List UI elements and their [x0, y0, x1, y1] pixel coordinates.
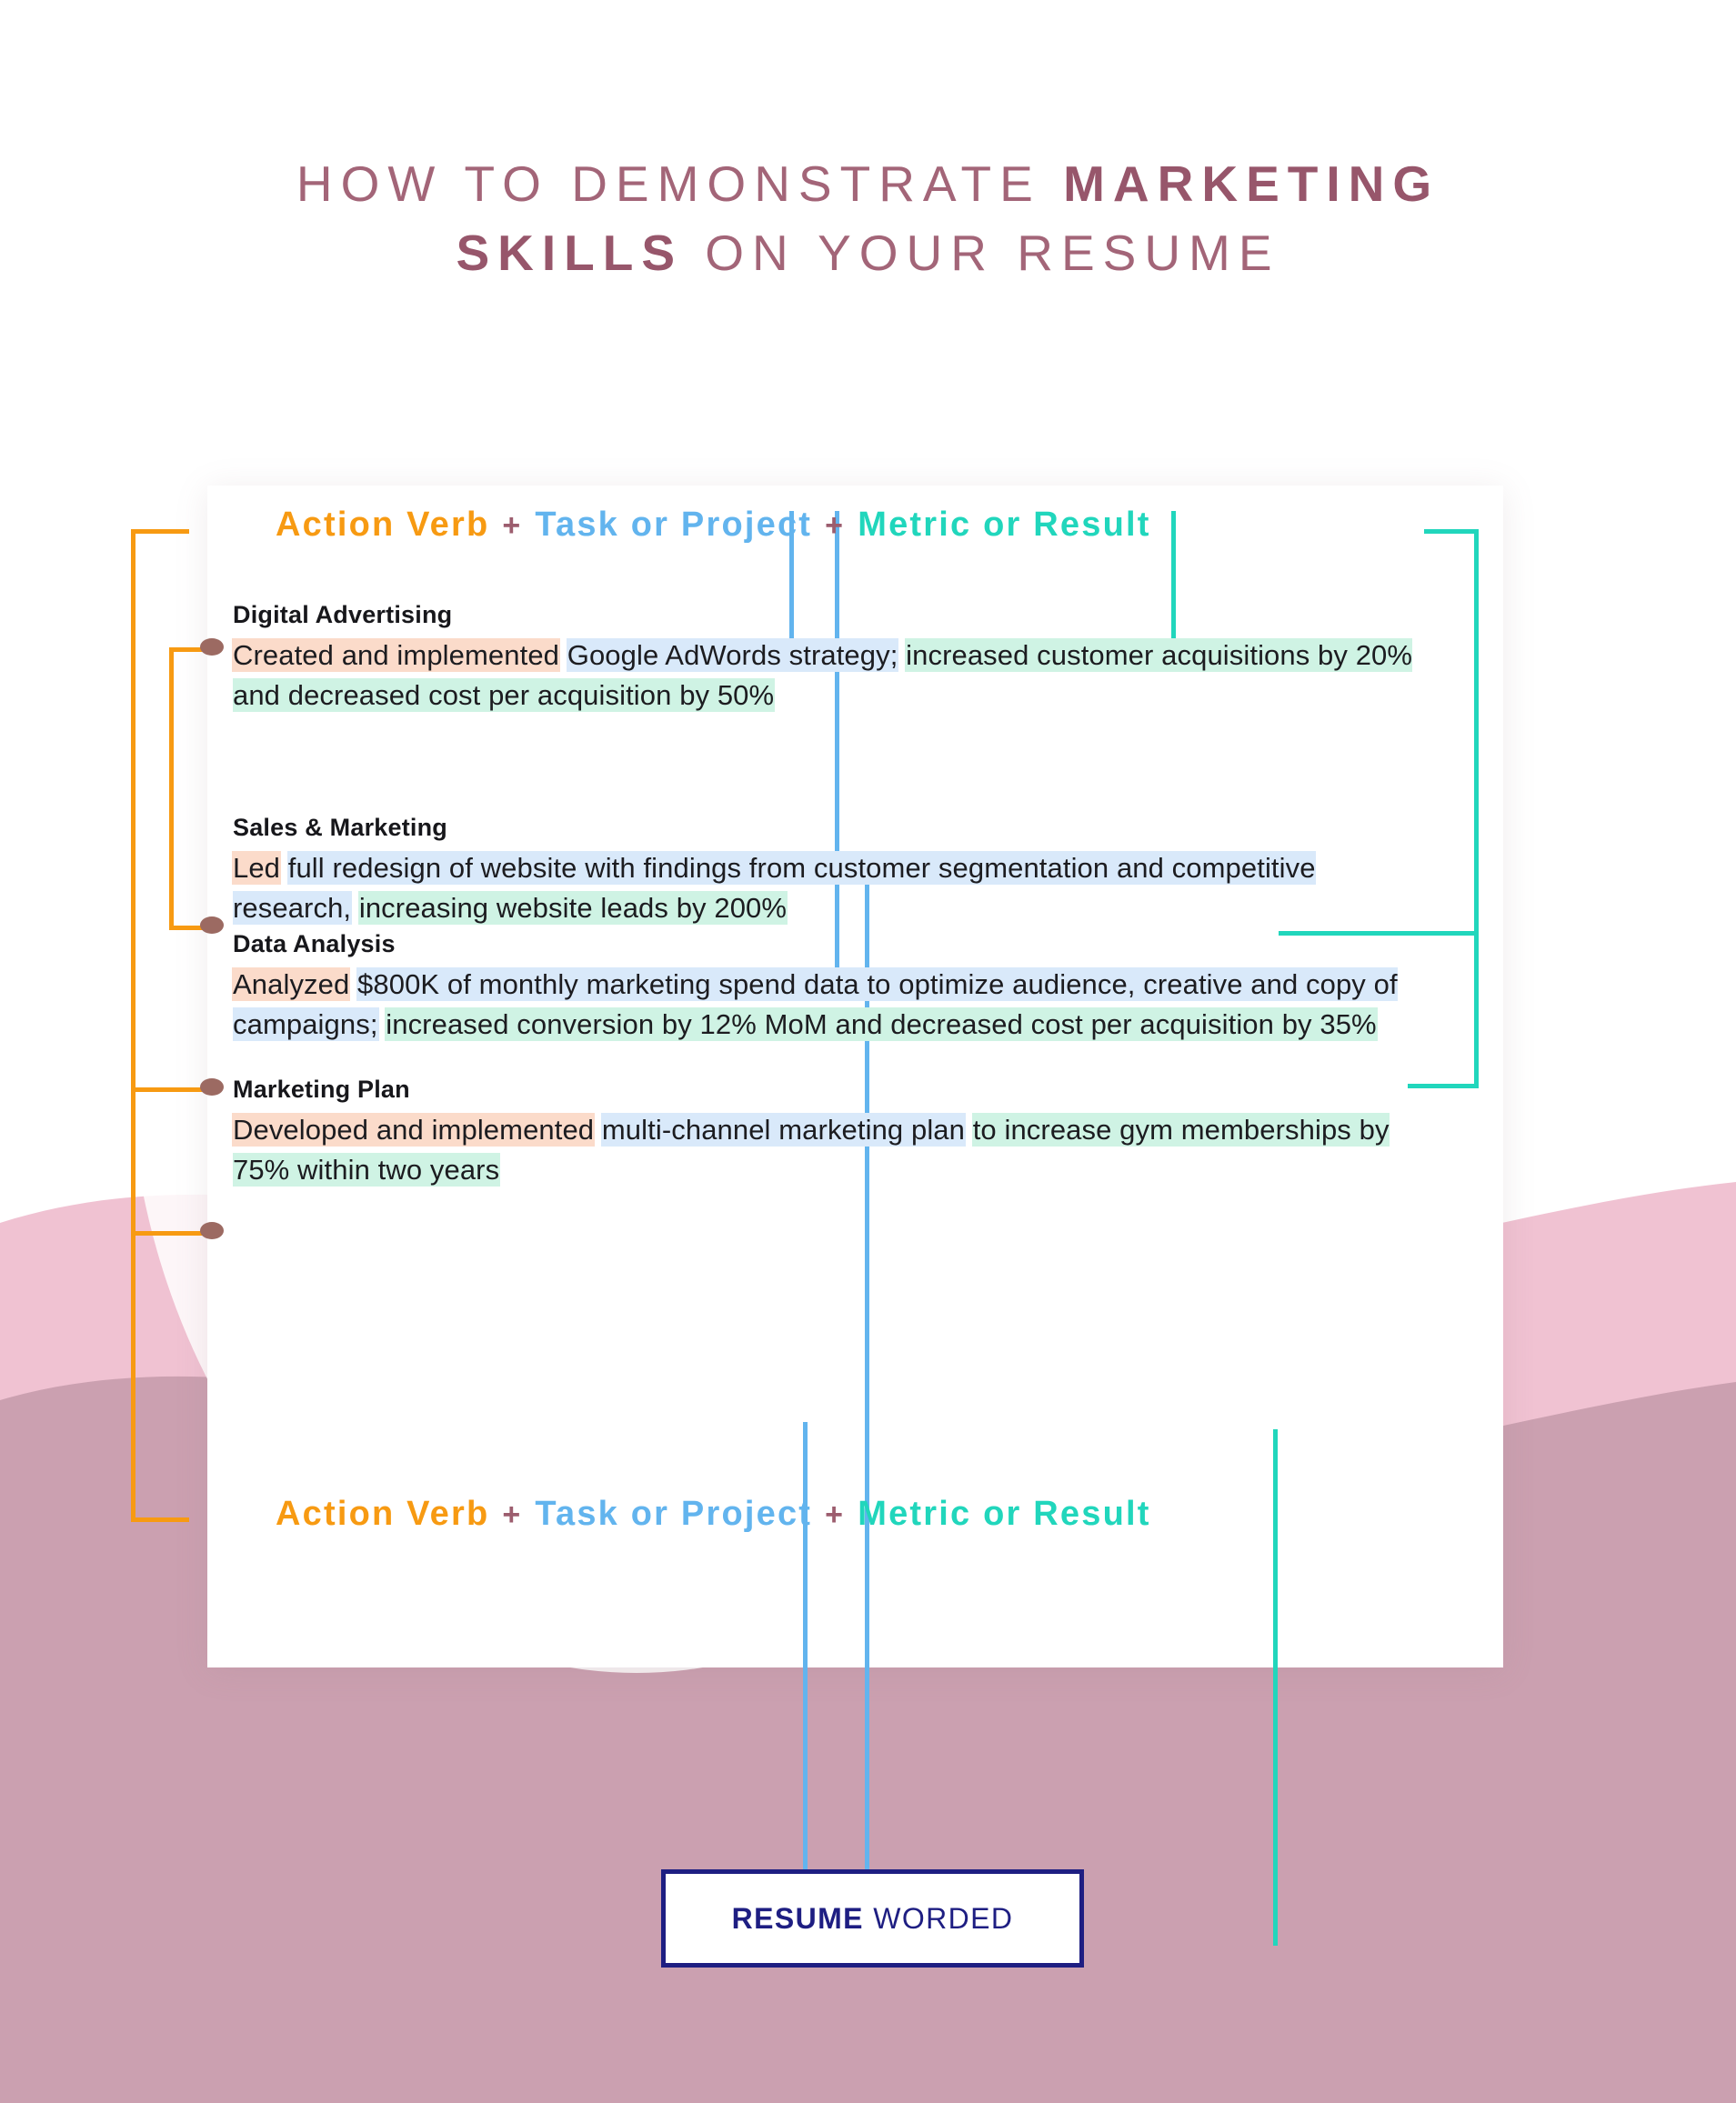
- title-line-2-normal: ON YOUR RESUME: [683, 225, 1280, 281]
- legend-bottom: Action Verb+Task or Project+Metric or Re…: [276, 1495, 1151, 1534]
- legend-top-metric-or-result: Metric or Result: [858, 506, 1150, 544]
- bullet-heading-2: Sales & Marketing: [233, 815, 1424, 842]
- legend-bottom-metric-or-result: Metric or Result: [858, 1495, 1150, 1533]
- orange-inner-spine-upper: [169, 647, 174, 929]
- logo-text-normal: WORDED: [864, 1902, 1013, 1935]
- orange-bracket-bottom-arm: [131, 1517, 189, 1522]
- legend-bottom-task-or-project: Task or Project: [535, 1495, 812, 1533]
- bullet-body-1: Created and implemented Google AdWords s…: [233, 636, 1424, 716]
- teal-bracket-spine: [1474, 529, 1479, 934]
- bullet-heading-4: Marketing Plan: [233, 1077, 1424, 1104]
- bullet-4-task: multi-channel marketing plan: [602, 1114, 965, 1146]
- orange-bracket-top-arm: [131, 529, 189, 534]
- title-line-1-normal: HOW TO DEMONSTRATE: [296, 155, 1063, 212]
- resume-bullet-2: Sales & Marketing Led full redesign of w…: [233, 815, 1424, 929]
- legend-top-task-or-project: Task or Project: [535, 506, 812, 544]
- bullet-2-verb: Led: [233, 852, 280, 884]
- title-line-2-bold: SKILLS: [456, 225, 683, 281]
- bullet-2-metric: increasing website leads by 200%: [359, 892, 787, 924]
- page-title: HOW TO DEMONSTRATE MARKETING SKILLS ON Y…: [0, 150, 1736, 288]
- bullet-body-4: Developed and implemented multi-channel …: [233, 1110, 1424, 1191]
- logo-text-bold: RESUME: [732, 1902, 864, 1935]
- legend-bottom-plus-2: +: [812, 1497, 858, 1532]
- resume-bullet-4: Marketing Plan Developed and implemented…: [233, 1077, 1424, 1191]
- bullet-3-metric: increased conversion by 12% MoM and decr…: [386, 1008, 1376, 1040]
- teal-bracket-spine-lower: [1474, 931, 1479, 1087]
- title-line-1: HOW TO DEMONSTRATE MARKETING: [0, 150, 1736, 219]
- resume-bullet-1: Digital Advertising Created and implemen…: [233, 602, 1424, 716]
- bullet-heading-3: Data Analysis: [233, 931, 1424, 958]
- bullet-4-verb: Developed and implemented: [233, 1114, 594, 1146]
- orange-bracket-spine: [131, 529, 135, 1522]
- bullet-3-verb: Analyzed: [233, 968, 349, 1000]
- legend-bottom-action-verb: Action Verb: [276, 1495, 489, 1533]
- legend-bottom-plus-1: +: [489, 1497, 535, 1532]
- title-line-2: SKILLS ON YOUR RESUME: [0, 219, 1736, 288]
- teal-bracket-top-arm: [1424, 529, 1479, 534]
- legend-top-plus-1: +: [489, 508, 535, 543]
- bullet-dot-3: [200, 1078, 224, 1096]
- resume-bullet-3: Data Analysis Analyzed $800K of monthly …: [233, 931, 1424, 1046]
- bullet-1-task: Google AdWords strategy;: [567, 639, 898, 671]
- resume-bullet-card: Action Verb+Task or Project+Metric or Re…: [207, 486, 1503, 1667]
- legend-top-plus-2: +: [812, 508, 858, 543]
- bullet-dot-2: [200, 916, 224, 934]
- bullet-body-3: Analyzed $800K of monthly marketing spen…: [233, 965, 1424, 1046]
- logo-text: RESUME WORDED: [732, 1902, 1014, 1936]
- bullet-dot-4: [200, 1222, 224, 1239]
- teal-riseline-bottom: [1273, 1429, 1278, 1946]
- legend-top-action-verb: Action Verb: [276, 506, 489, 544]
- resume-worded-logo[interactable]: RESUME WORDED: [661, 1869, 1084, 1968]
- bullet-1-verb: Created and implemented: [233, 639, 559, 671]
- bullet-heading-1: Digital Advertising: [233, 602, 1424, 629]
- legend-top: Action Verb+Task or Project+Metric or Re…: [276, 506, 1151, 545]
- bullet-body-2: Led full redesign of website with findin…: [233, 848, 1424, 929]
- bullet-dot-1: [200, 638, 224, 656]
- title-line-1-bold: MARKETING: [1063, 155, 1440, 212]
